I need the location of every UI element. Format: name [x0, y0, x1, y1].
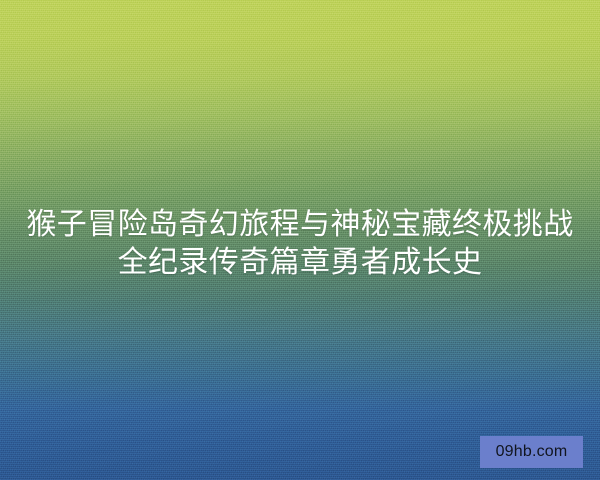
banner-image: 猴子冒险岛奇幻旅程与神秘宝藏终极挑战 全纪录传奇篇章勇者成长史 09hb.com — [0, 0, 600, 480]
headline-line-2: 全纪录传奇篇章勇者成长史 — [14, 244, 586, 282]
watermark-text: 09hb.com — [496, 444, 568, 460]
watermark-badge: 09hb.com — [480, 436, 583, 468]
headline-title: 猴子冒险岛奇幻旅程与神秘宝藏终极挑战 全纪录传奇篇章勇者成长史 — [0, 206, 600, 282]
headline-line-1: 猴子冒险岛奇幻旅程与神秘宝藏终极挑战 — [14, 206, 586, 244]
